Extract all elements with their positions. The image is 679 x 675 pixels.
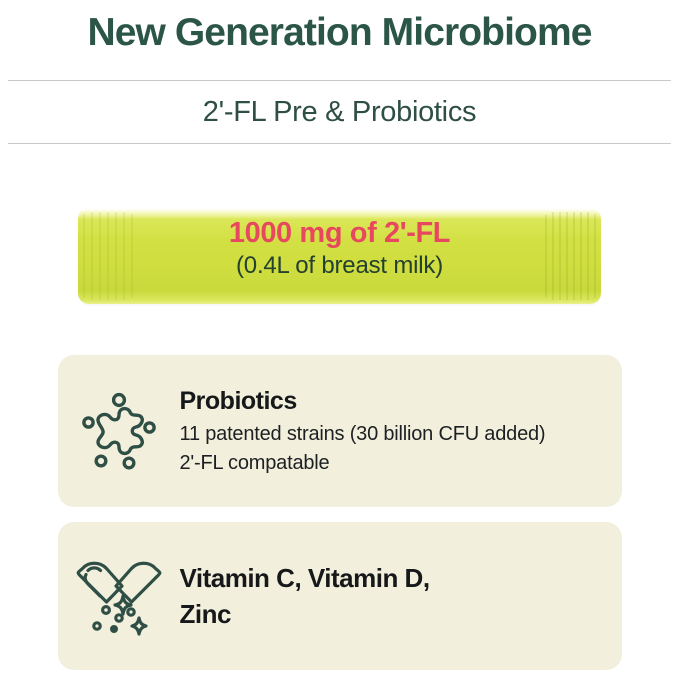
vitamins-text-block: Vitamin C, Vitamin D, Zinc: [180, 560, 622, 632]
feature-card-vitamins: Vitamin C, Vitamin D, Zinc: [58, 522, 622, 670]
probiotics-text-block: Probiotics 11 patented strains (30 billi…: [180, 385, 622, 478]
page-title: New Generation Microbiome: [0, 6, 679, 60]
stick-equivalent-label: (0.4L of breast milk): [0, 250, 679, 281]
probiotics-line-1: 11 patented strains (30 billion CFU adde…: [180, 420, 608, 449]
vitamins-heading-line-1: Vitamin C, Vitamin D,: [180, 560, 608, 596]
header-block: New Generation Microbiome 2'-FL Pre & Pr…: [0, 0, 679, 144]
capsule-sparkle-icon: [58, 556, 180, 636]
stick-pack-text: 1000 mg of 2'-FL (0.4L of breast milk): [0, 216, 679, 281]
page-subtitle: 2'-FL Pre & Probiotics: [0, 81, 679, 143]
probiotics-line-2: 2'-FL compatable: [180, 449, 608, 478]
microbe-icon: [58, 391, 180, 471]
feature-card-probiotics: Probiotics 11 patented strains (30 billi…: [58, 355, 622, 507]
stick-dose-label: 1000 mg of 2'-FL: [0, 216, 679, 250]
divider-bottom: [8, 143, 671, 144]
vitamins-heading-line-2: Zinc: [180, 596, 608, 632]
probiotics-heading: Probiotics: [180, 385, 608, 417]
stick-pack-section: 1000 mg of 2'-FL (0.4L of breast milk): [0, 202, 679, 310]
